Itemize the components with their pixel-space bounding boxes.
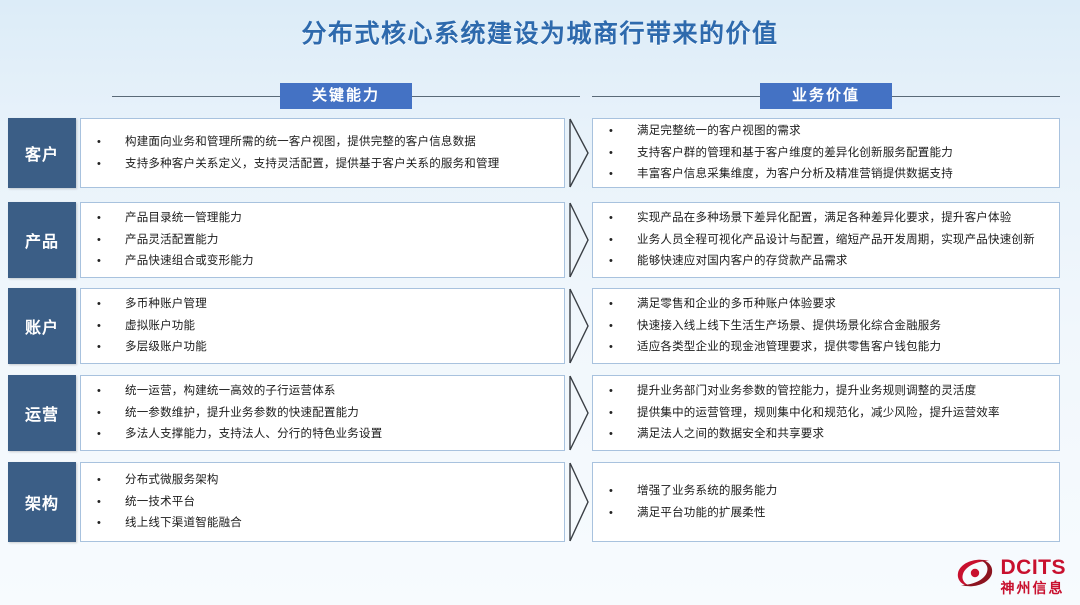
bullet-item: •统一技术平台 bbox=[93, 491, 554, 513]
header-rule-left-end bbox=[412, 96, 580, 97]
bullet-item: •业务人员全程可视化产品设计与配置，缩短产品开发周期，实现产品快速创新 bbox=[605, 229, 1049, 251]
category-label-text: 架构 bbox=[25, 490, 59, 514]
bullet-dot-icon: • bbox=[93, 384, 125, 399]
bullet-text: 产品灵活配置能力 bbox=[125, 233, 554, 247]
bullet-dot-icon: • bbox=[93, 157, 125, 172]
bullet-dot-icon: • bbox=[605, 506, 637, 521]
values-box: •提升业务部门对业务参数的管控能力，提升业务规则调整的灵活度•提供集中的运营管理… bbox=[592, 375, 1060, 451]
bullet-item: •提供集中的运营管理，规则集中化和规范化，减少风险，提升运营效率 bbox=[605, 402, 1049, 424]
bullet-item: •分布式微服务架构 bbox=[93, 469, 554, 491]
bullet-dot-icon: • bbox=[605, 167, 637, 182]
logo-en-text: DCITS bbox=[1001, 557, 1067, 578]
category-label-box[interactable]: 客户 bbox=[8, 118, 76, 188]
bullet-dot-icon: • bbox=[605, 484, 637, 499]
bullet-text: 能够快速应对国内客户的存贷款产品需求 bbox=[637, 254, 1049, 268]
bullet-item: •快速接入线上线下生活生产场景、提供场景化综合金融服务 bbox=[605, 315, 1049, 337]
bullet-dot-icon: • bbox=[605, 427, 637, 442]
bullet-dot-icon: • bbox=[605, 211, 637, 226]
bullet-dot-icon: • bbox=[605, 384, 637, 399]
values-chip-label: 业务价值 bbox=[760, 83, 892, 109]
bullet-item: •产品快速组合或变形能力 bbox=[93, 251, 554, 273]
capabilities-box: •统一运营，构建统一高效的子行运营体系•统一参数维护，提升业务参数的快速配置能力… bbox=[80, 375, 565, 451]
bullet-dot-icon: • bbox=[93, 516, 125, 531]
bullet-text: 产品快速组合或变形能力 bbox=[125, 254, 554, 268]
bullet-dot-icon: • bbox=[93, 427, 125, 442]
bullet-item: •支持客户群的管理和基于客户维度的差异化创新服务配置能力 bbox=[605, 142, 1049, 164]
bullet-dot-icon: • bbox=[93, 211, 125, 226]
logo-cn-text: 神州信息 bbox=[1001, 581, 1067, 595]
bullet-dot-icon: • bbox=[93, 340, 125, 355]
bullet-text: 满足完整统一的客户视图的需求 bbox=[637, 124, 1049, 138]
bullet-text: 支持多种客户关系定义，支持灵活配置，提供基于客户关系的服务和管理 bbox=[125, 157, 554, 171]
capabilities-box: •多币种账户管理•虚拟账户功能•多层级账户功能 bbox=[80, 288, 565, 364]
bullet-item: •多层级账户功能 bbox=[93, 337, 554, 359]
capabilities-box: •产品目录统一管理能力•产品灵活配置能力•产品快速组合或变形能力 bbox=[80, 202, 565, 278]
bullet-item: •多币种账户管理 bbox=[93, 293, 554, 315]
bullet-text: 适应各类型企业的现金池管理要求，提供零售客户钱包能力 bbox=[637, 340, 1049, 354]
bullet-dot-icon: • bbox=[93, 406, 125, 421]
category-label-text: 客户 bbox=[25, 141, 59, 165]
bullet-item: •实现产品在多种场景下差异化配置，满足各种差异化要求，提升客户体验 bbox=[605, 207, 1049, 229]
bullet-text: 满足法人之间的数据安全和共享要求 bbox=[637, 427, 1049, 441]
bullet-dot-icon: • bbox=[605, 319, 637, 334]
bullet-dot-icon: • bbox=[605, 124, 637, 139]
values-box: •满足零售和企业的多币种账户体验要求•快速接入线上线下生活生产场景、提供场景化综… bbox=[592, 288, 1060, 364]
bullet-dot-icon: • bbox=[93, 495, 125, 510]
bullet-item: •适应各类型企业的现金池管理要求，提供零售客户钱包能力 bbox=[605, 337, 1049, 359]
bullet-item: •满足完整统一的客户视图的需求 bbox=[605, 120, 1049, 142]
bullet-item: •统一参数维护，提升业务参数的快速配置能力 bbox=[93, 402, 554, 424]
bullet-text: 实现产品在多种场景下差异化配置，满足各种差异化要求，提升客户体验 bbox=[637, 211, 1049, 225]
bullet-item: •提升业务部门对业务参数的管控能力，提升业务规则调整的灵活度 bbox=[605, 380, 1049, 402]
bullet-item: •能够快速应对国内客户的存贷款产品需求 bbox=[605, 251, 1049, 273]
bullet-text: 丰富客户信息采集维度，为客户分析及精准营销提供数据支持 bbox=[637, 167, 1049, 181]
capabilities-box: •分布式微服务架构•统一技术平台•线上线下渠道智能融合 bbox=[80, 462, 565, 542]
slide-canvas: 分布式核心系统建设为城商行带来的价值 关键能力 业务价值 客户•构建面向业务和管… bbox=[0, 0, 1080, 605]
values-box: •增强了业务系统的服务能力•满足平台功能的扩展柔性 bbox=[592, 462, 1060, 542]
bullet-dot-icon: • bbox=[605, 146, 637, 161]
bullet-dot-icon: • bbox=[605, 406, 637, 421]
bullet-dot-icon: • bbox=[605, 254, 637, 269]
bullet-text: 满足平台功能的扩展柔性 bbox=[637, 506, 1049, 520]
bullet-dot-icon: • bbox=[605, 297, 637, 312]
bullet-dot-icon: • bbox=[93, 254, 125, 269]
category-label-box[interactable]: 账户 bbox=[8, 288, 76, 364]
bullet-dot-icon: • bbox=[93, 319, 125, 334]
capabilities-box: •构建面向业务和管理所需的统一客户视图，提供完整的客户信息数据•支持多种客户关系… bbox=[80, 118, 565, 188]
category-label-box[interactable]: 产品 bbox=[8, 202, 76, 278]
bullet-text: 统一运营，构建统一高效的子行运营体系 bbox=[125, 384, 554, 398]
bullet-text: 产品目录统一管理能力 bbox=[125, 211, 554, 225]
chevron-right-icon bbox=[568, 375, 590, 451]
column-header-capabilities: 关键能力 bbox=[112, 82, 580, 110]
bullet-text: 统一技术平台 bbox=[125, 495, 554, 509]
bullet-item: •统一运营，构建统一高效的子行运营体系 bbox=[93, 380, 554, 402]
bullet-item: •满足平台功能的扩展柔性 bbox=[605, 502, 1049, 524]
column-header-values: 业务价值 bbox=[592, 82, 1060, 110]
logo-wordmark: DCITS 神州信息 bbox=[1001, 557, 1067, 595]
bullet-text: 虚拟账户功能 bbox=[125, 319, 554, 333]
chevron-right-icon bbox=[568, 462, 590, 542]
category-label-text: 产品 bbox=[25, 228, 59, 252]
bullet-dot-icon: • bbox=[605, 233, 637, 248]
bullet-dot-icon: • bbox=[93, 297, 125, 312]
bullet-item: •多法人支撑能力，支持法人、分行的特色业务设置 bbox=[93, 424, 554, 446]
bullet-text: 快速接入线上线下生活生产场景、提供场景化综合金融服务 bbox=[637, 319, 1049, 333]
bullet-item: •构建面向业务和管理所需的统一客户视图，提供完整的客户信息数据 bbox=[93, 131, 554, 153]
chevron-right-icon bbox=[568, 202, 590, 278]
bullet-text: 增强了业务系统的服务能力 bbox=[637, 484, 1049, 498]
header-rule-left-start bbox=[112, 96, 280, 97]
bullet-item: •线上线下渠道智能融合 bbox=[93, 513, 554, 535]
bullet-item: •产品目录统一管理能力 bbox=[93, 207, 554, 229]
dcits-swirl-icon bbox=[955, 556, 995, 595]
bullet-item: •丰富客户信息采集维度，为客户分析及精准营销提供数据支持 bbox=[605, 164, 1049, 186]
chevron-right-icon bbox=[568, 118, 590, 188]
category-label-box[interactable]: 运营 bbox=[8, 375, 76, 451]
bullet-text: 统一参数维护，提升业务参数的快速配置能力 bbox=[125, 406, 554, 420]
values-box: •实现产品在多种场景下差异化配置，满足各种差异化要求，提升客户体验•业务人员全程… bbox=[592, 202, 1060, 278]
chevron-right-icon bbox=[568, 288, 590, 364]
bullet-item: •满足零售和企业的多币种账户体验要求 bbox=[605, 293, 1049, 315]
bullet-text: 多法人支撑能力，支持法人、分行的特色业务设置 bbox=[125, 427, 554, 441]
category-label-text: 运营 bbox=[25, 401, 59, 425]
bullet-item: •产品灵活配置能力 bbox=[93, 229, 554, 251]
bullet-dot-icon: • bbox=[93, 473, 125, 488]
bullet-text: 线上线下渠道智能融合 bbox=[125, 516, 554, 530]
header-rule-right-start bbox=[592, 96, 760, 97]
bullet-item: •虚拟账户功能 bbox=[93, 315, 554, 337]
bullet-text: 提升业务部门对业务参数的管控能力，提升业务规则调整的灵活度 bbox=[637, 384, 1049, 398]
capabilities-chip-label: 关键能力 bbox=[280, 83, 412, 109]
bullet-item: •满足法人之间的数据安全和共享要求 bbox=[605, 424, 1049, 446]
bullet-text: 满足零售和企业的多币种账户体验要求 bbox=[637, 297, 1049, 311]
values-box: •满足完整统一的客户视图的需求•支持客户群的管理和基于客户维度的差异化创新服务配… bbox=[592, 118, 1060, 188]
bullet-text: 提供集中的运营管理，规则集中化和规范化，减少风险，提升运营效率 bbox=[637, 406, 1049, 420]
bullet-text: 多币种账户管理 bbox=[125, 297, 554, 311]
header-rule-right-end bbox=[892, 96, 1060, 97]
bullet-item: •增强了业务系统的服务能力 bbox=[605, 480, 1049, 502]
bullet-dot-icon: • bbox=[93, 135, 125, 150]
page-title: 分布式核心系统建设为城商行带来的价值 bbox=[0, 14, 1080, 50]
bullet-item: •支持多种客户关系定义，支持灵活配置，提供基于客户关系的服务和管理 bbox=[93, 153, 554, 175]
category-label-text: 账户 bbox=[25, 314, 59, 338]
bullet-text: 支持客户群的管理和基于客户维度的差异化创新服务配置能力 bbox=[637, 146, 1049, 160]
category-label-box[interactable]: 架构 bbox=[8, 462, 76, 542]
bullet-text: 分布式微服务架构 bbox=[125, 473, 554, 487]
bullet-dot-icon: • bbox=[93, 233, 125, 248]
bullet-dot-icon: • bbox=[605, 340, 637, 355]
dcits-logo: DCITS 神州信息 bbox=[955, 556, 1067, 595]
bullet-text: 构建面向业务和管理所需的统一客户视图，提供完整的客户信息数据 bbox=[125, 135, 554, 149]
bullet-text: 多层级账户功能 bbox=[125, 340, 554, 354]
bullet-text: 业务人员全程可视化产品设计与配置，缩短产品开发周期，实现产品快速创新 bbox=[637, 233, 1049, 247]
